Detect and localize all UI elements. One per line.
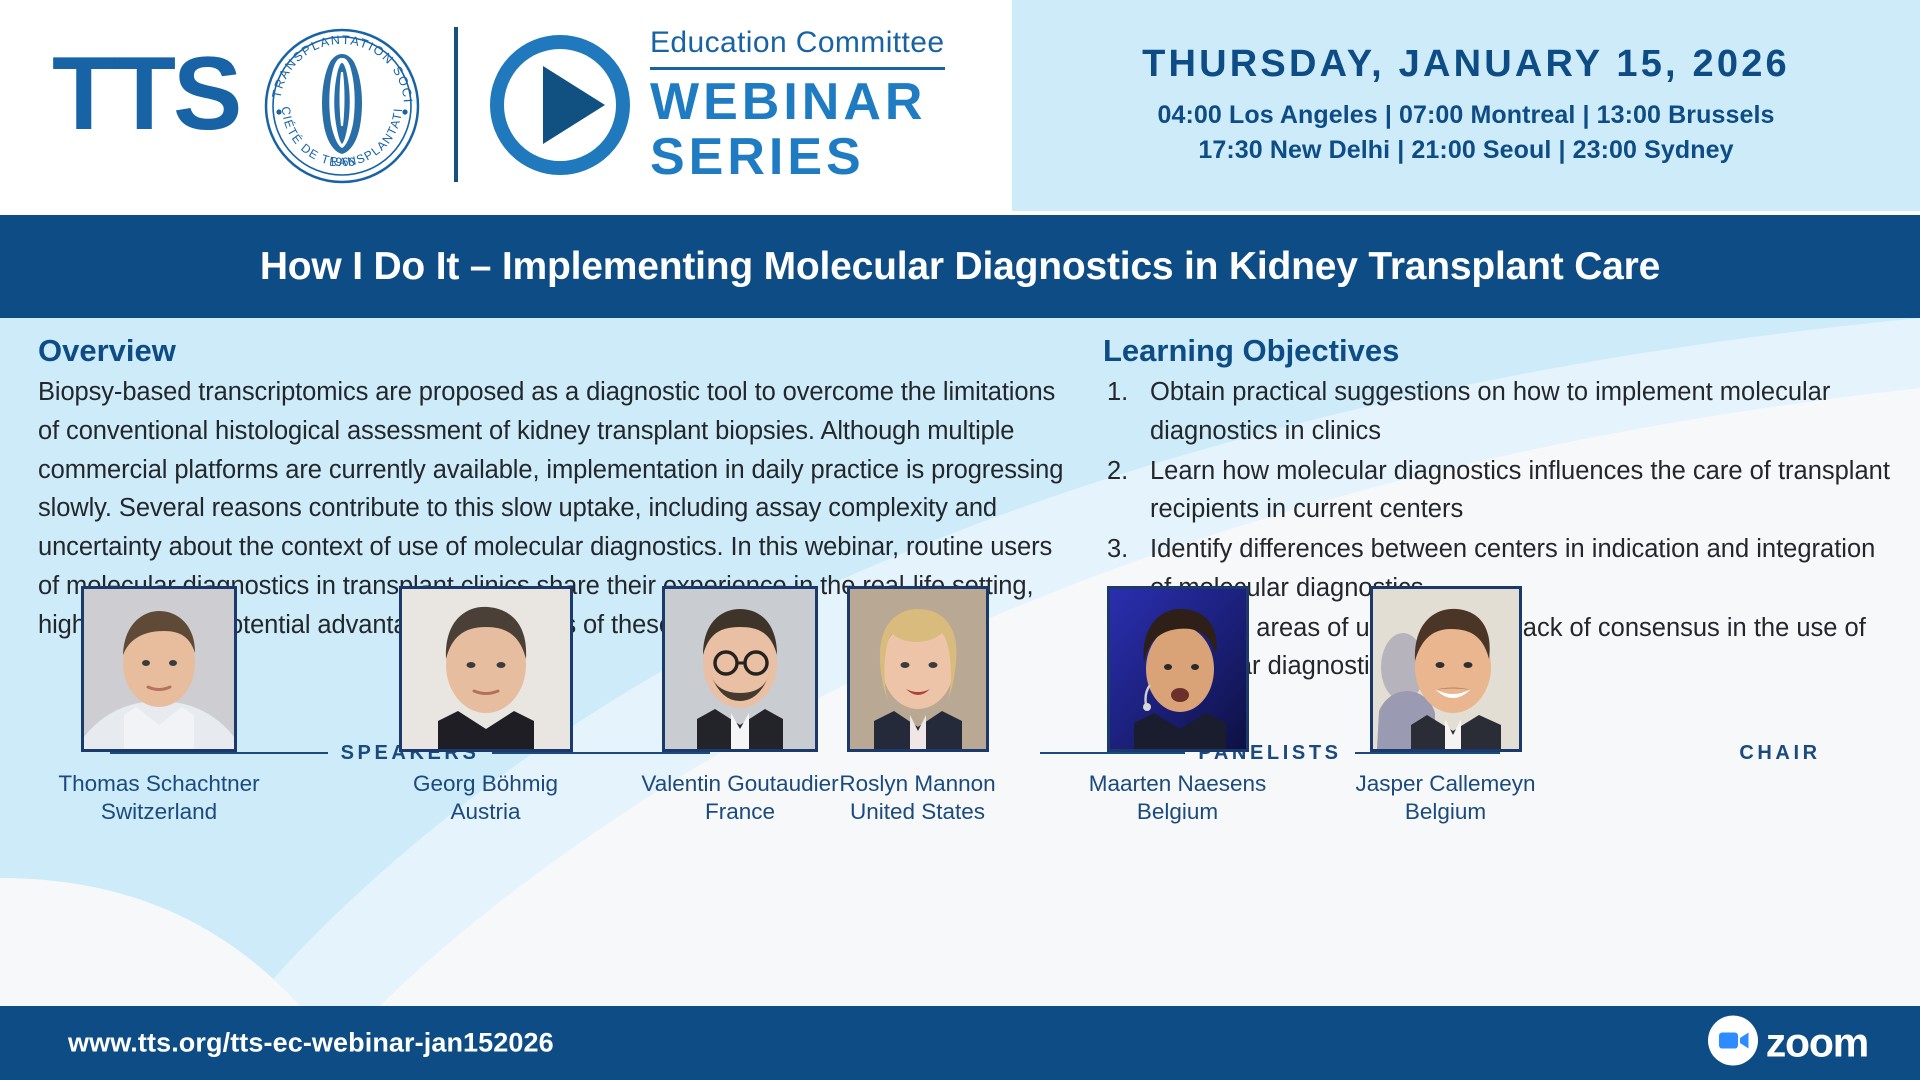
people-section: SPEAKERS PANELISTS CHAIR [0,586,1920,1006]
person-name: Thomas Schachtner [58,770,259,799]
person-country: Belgium [1405,798,1486,827]
objective-text: Learn how molecular diagnostics influenc… [1150,457,1890,524]
timezones-line-1: 04:00 Los Angeles | 07:00 Montreal | 13:… [1157,98,1774,133]
webinar-url[interactable]: www.tts.org/tts-ec-webinar-jan152026 [68,1028,554,1059]
footer-bar: www.tts.org/tts-ec-webinar-jan152026 zoo… [0,1006,1920,1080]
person-card: Jasper Callemeyn Belgium [1368,586,1523,752]
education-committee-label: Education Committee [650,28,1000,58]
avatar [662,586,818,752]
tts-wordmark: TTS [52,42,239,146]
zoom-camera-icon [1707,1015,1759,1072]
person-card: Thomas Schachtner Switzerland [79,586,239,752]
person-name: Jasper Callemeyn [1355,770,1535,799]
person-card: Valentin Goutaudier France [660,586,820,752]
webinar-flyer: TTS THE TRANSPLANTATION SOCIETY SOCIÉTÉ … [0,0,1920,1080]
objective-number: 3. [1107,530,1128,569]
timezones-line-2: 17:30 New Delhi | 21:00 Seoul | 23:00 Sy… [1198,133,1733,168]
title-bar: How I Do It – Implementing Molecular Dia… [0,215,1920,318]
overview-heading: Overview [38,335,1068,366]
person-name: Maarten Naesens [1089,770,1267,799]
person-name: Valentin Goutaudier [641,770,838,799]
page-title: How I Do It – Implementing Molecular Dia… [260,245,1660,289]
education-committee-lockup: Education Committee WEBINAR SERIES [650,28,1000,184]
body-area: Overview Biopsy-based transcriptomics ar… [0,318,1920,1006]
person-card: Maarten Naesens Belgium [1105,586,1250,752]
lockup-rule [650,67,945,70]
role-divider-line [1355,752,1500,754]
person-country: United States [850,798,985,827]
content: Overview Biopsy-based transcriptomics ar… [0,318,1920,1006]
avatar [81,586,237,752]
person-country: Switzerland [101,798,217,827]
avatar [1107,586,1249,752]
tts-seal-icon: THE TRANSPLANTATION SOCIETY SOCIÉTÉ DE T… [260,26,425,186]
role-divider-line [1040,752,1185,754]
logo-block: TTS THE TRANSPLANTATION SOCIETY SOCIÉTÉ … [0,0,1012,211]
person-name: Georg Böhmig [413,770,558,799]
chair-role-band: CHAIR [1690,738,1870,768]
role-divider-line [110,752,328,754]
objective-number: 1. [1107,373,1128,412]
avatar [847,586,989,752]
person-card: Georg Böhmig Austria [398,586,573,752]
role-divider-line [492,752,710,754]
objective-item: 2. Learn how molecular diagnostics influ… [1103,452,1903,530]
avatar [399,586,573,752]
logo-divider [454,27,458,182]
zoom-wordmark: zoom [1766,1023,1868,1064]
chair-label: CHAIR [1726,742,1833,765]
avatar [1370,586,1522,752]
person-country: France [705,798,775,827]
series-label: SERIES [650,130,1000,185]
person-country: Belgium [1137,798,1218,827]
person-card: Roslyn Mannon United States [845,586,990,752]
objectives-heading: Learning Objectives [1103,335,1903,366]
header: TTS THE TRANSPLANTATION SOCIETY SOCIÉTÉ … [0,0,1920,215]
person-country: Austria [450,798,520,827]
zoom-logo: zoom [1707,1015,1868,1072]
webinar-date: THURSDAY, JANUARY 15, 2026 [1142,44,1790,86]
date-time-panel: THURSDAY, JANUARY 15, 2026 04:00 Los Ang… [1012,0,1920,211]
person-name: Roslyn Mannon [839,770,995,799]
play-button-icon [485,30,635,180]
objective-number: 2. [1107,452,1128,491]
webinar-label: WEBINAR [650,75,1000,130]
objective-item: 1. Obtain practical suggestions on how t… [1103,373,1903,451]
objective-text: Obtain practical suggestions on how to i… [1150,378,1830,445]
svg-text:1966: 1966 [329,157,355,169]
